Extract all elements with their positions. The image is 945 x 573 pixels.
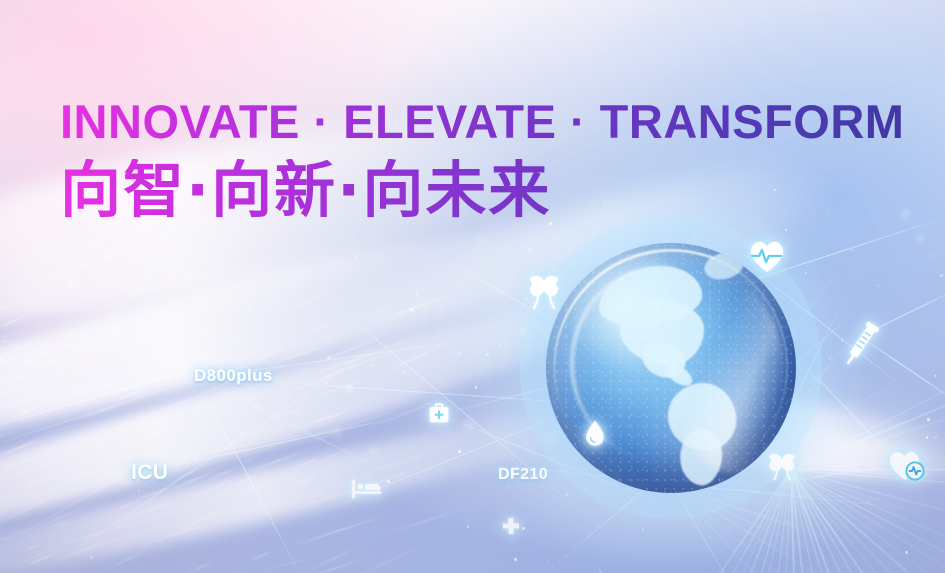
label-df210: DF210 — [498, 466, 548, 484]
perspective-ray — [790, 469, 936, 573]
network-filament-pale — [150, 416, 405, 471]
perspective-ray — [790, 469, 945, 573]
sparkle-particle — [576, 499, 577, 500]
perspective-ray — [672, 485, 889, 573]
wave-stroke — [88, 299, 127, 315]
wave-stroke — [81, 314, 158, 341]
sparkle-particle — [934, 436, 936, 438]
sparkle-particle — [25, 265, 27, 267]
sparkle-particle — [371, 364, 373, 366]
sparkle-particle — [548, 561, 549, 562]
wave-stroke — [228, 336, 243, 344]
syringe-icon — [838, 317, 884, 371]
wave-stroke — [0, 305, 12, 311]
sparkle-particle — [162, 235, 165, 238]
perspective-ray — [673, 485, 857, 549]
sparkle-particle — [940, 274, 943, 277]
wave-stroke — [371, 294, 449, 325]
sparkle-particle — [4, 340, 6, 342]
sparkle-particle — [388, 466, 389, 467]
sparkle-particle — [299, 407, 300, 408]
wave-stroke — [314, 409, 398, 437]
wave-stroke — [0, 392, 49, 412]
bokeh-particle — [475, 236, 486, 247]
sparkle-particle — [528, 249, 530, 251]
wave-stroke — [378, 442, 456, 472]
medical-kit-icon — [428, 403, 450, 424]
wave-stroke — [128, 389, 152, 399]
sparkle-particle — [935, 375, 937, 377]
wave-stroke — [44, 517, 69, 530]
sparkle-particle — [829, 357, 832, 360]
sparkle-particle — [189, 421, 190, 422]
sparkle-particle — [102, 407, 103, 408]
wave-stroke — [0, 434, 60, 464]
wave-stroke — [0, 486, 76, 531]
sparkle-particle — [279, 373, 280, 374]
wave-stroke — [289, 514, 388, 548]
wave-stroke — [9, 471, 98, 508]
wave-stroke — [232, 424, 286, 441]
wave-stroke — [239, 447, 315, 477]
wave-stroke — [291, 475, 316, 488]
wave-stroke — [246, 403, 266, 412]
sparkle-particle — [42, 352, 45, 355]
background-vignette — [0, 0, 945, 573]
sparkle-particle — [936, 436, 937, 437]
sparkle-particle — [498, 344, 501, 347]
wave-stroke — [127, 317, 196, 341]
sparkle-particle — [336, 300, 338, 302]
background-base-gradient — [0, 0, 945, 573]
wave-stroke — [24, 543, 41, 550]
bokeh-particle — [346, 384, 355, 393]
sparkle-particle — [566, 493, 569, 496]
wave-stroke — [308, 445, 352, 468]
sparkle-particle — [202, 300, 203, 301]
globe-sphere — [546, 243, 796, 493]
wave-stroke — [36, 363, 79, 383]
sparkle-particle — [801, 523, 803, 525]
wave-stroke — [0, 320, 58, 347]
wave-stroke — [103, 548, 150, 572]
wave-stroke — [54, 521, 139, 548]
wave-stroke — [96, 401, 126, 415]
wave-stroke — [224, 477, 256, 489]
sparkle-particle — [693, 236, 695, 238]
sparkle-particle — [458, 352, 461, 355]
sparkle-particle — [387, 480, 390, 483]
background-network-lines — [0, 0, 945, 573]
hero-copy: INNOVATE · ELEVATE · TRANSFORM 向智·向新·向未来 — [60, 98, 904, 223]
background-center-glow — [0, 0, 945, 573]
sparkle-particle — [162, 265, 165, 268]
sparkle-particle — [467, 525, 469, 527]
sparkle-particle — [187, 438, 189, 440]
background-wave-texture — [0, 0, 945, 573]
wave-stroke — [0, 383, 35, 401]
wave-stroke — [89, 437, 159, 462]
perspective-ray — [790, 470, 895, 573]
wave-stroke — [0, 366, 42, 387]
network-filament-pale — [10, 375, 296, 541]
wave-stroke — [311, 332, 393, 367]
wave-stroke — [63, 536, 111, 560]
bokeh-particle — [929, 252, 937, 260]
bokeh-particle — [519, 326, 529, 336]
perspective-ray — [790, 470, 883, 573]
bokeh-particle — [68, 276, 80, 288]
wave-stroke — [143, 428, 170, 440]
sparkle-particle — [197, 311, 199, 313]
wave-stroke — [241, 456, 260, 465]
network-filament — [40, 310, 430, 573]
bokeh-particle — [294, 409, 300, 415]
wave-stroke — [377, 290, 461, 326]
wave-stroke — [289, 403, 366, 434]
background-perspective-rays — [0, 0, 945, 573]
wave-stroke — [140, 525, 201, 548]
sparkle-particle — [220, 247, 221, 248]
sparkle-particle — [785, 229, 787, 231]
wave-stroke — [0, 433, 49, 461]
wave-stroke — [72, 400, 133, 422]
wave-stroke — [1, 447, 86, 482]
wave-stroke — [268, 312, 359, 349]
sparkle-particle — [927, 418, 930, 421]
background-blue-wash — [0, 0, 945, 573]
sparkle-particle — [867, 501, 869, 503]
wave-stroke — [21, 435, 89, 459]
wave-stroke — [84, 318, 155, 347]
wave-stroke — [309, 346, 394, 377]
wave-stroke — [14, 349, 52, 367]
sparkle-particle — [451, 319, 453, 321]
wave-stroke — [297, 409, 350, 428]
network-filament — [60, 236, 349, 320]
sparkle-particle — [410, 308, 413, 311]
wave-stroke — [52, 304, 143, 339]
wave-stroke — [0, 340, 32, 356]
wave-stroke — [314, 426, 335, 437]
wave-stroke — [160, 499, 244, 539]
wave-stroke — [253, 346, 286, 361]
globe-graphic — [546, 243, 796, 493]
sparkle-particle — [566, 556, 567, 557]
wave-stroke — [55, 521, 72, 529]
wave-stroke — [305, 348, 400, 384]
bokeh-particle — [916, 234, 924, 242]
wave-stroke — [0, 521, 51, 551]
perspective-ray — [672, 486, 758, 573]
wave-stroke — [0, 491, 18, 508]
sparkle-particle — [268, 298, 269, 299]
bokeh-particle — [331, 425, 342, 436]
wave-stroke — [0, 346, 42, 377]
sparkle-particle — [514, 558, 517, 561]
wave-stroke — [188, 560, 214, 573]
sparkle-particle — [325, 381, 328, 384]
sparkle-particle — [800, 253, 802, 255]
background-particles — [0, 0, 945, 573]
bokeh-particle — [247, 307, 251, 311]
network-filament — [860, 336, 945, 410]
sparkle-particle — [241, 432, 243, 434]
wave-stroke — [318, 370, 342, 382]
sparkle-particle — [410, 328, 412, 330]
kidneys-icon-2 — [762, 452, 802, 482]
wave-stroke — [346, 544, 425, 573]
heart-monitor-icon — [888, 450, 926, 482]
perspective-ray — [791, 469, 945, 573]
wave-stroke — [150, 391, 211, 414]
wave-stroke — [79, 427, 132, 451]
medical-cross-icon — [501, 517, 521, 537]
background-pink-bloom — [0, 0, 945, 573]
sparkle-particle — [486, 353, 489, 356]
light-ribbon — [0, 188, 619, 480]
label-icu: ICU — [131, 461, 168, 485]
wave-stroke — [333, 324, 397, 356]
sparkle-particle — [926, 436, 929, 439]
perspective-ray — [672, 486, 802, 573]
wave-stroke — [0, 335, 62, 356]
wave-stroke — [48, 533, 136, 563]
wave-stroke — [284, 456, 323, 472]
perspective-ray — [790, 470, 864, 573]
wave-stroke — [166, 467, 222, 491]
wave-stroke — [214, 400, 228, 408]
sparkle-particle — [355, 256, 358, 259]
wave-stroke — [109, 497, 147, 514]
wave-stroke — [1, 351, 57, 376]
wave-stroke — [246, 481, 308, 502]
sparkle-particle — [786, 521, 788, 523]
perspective-ray — [790, 470, 945, 573]
wave-stroke — [371, 332, 427, 355]
sparkle-particle — [805, 272, 807, 274]
wave-stroke — [155, 321, 218, 351]
wave-stroke — [234, 318, 253, 328]
sparkle-particle — [146, 403, 147, 404]
wave-stroke — [62, 378, 102, 396]
wave-stroke — [83, 383, 115, 395]
hero-banner: D800plus ICU DF210 INNOVATE · ELEVATE · … — [0, 0, 945, 573]
sparkle-particle — [522, 527, 524, 529]
sparkle-particle — [61, 487, 63, 489]
sparkle-particle — [851, 249, 853, 251]
sparkle-particle — [38, 493, 39, 494]
wave-stroke — [309, 328, 347, 343]
background-light-ribbons — [0, 0, 945, 573]
wave-stroke — [127, 355, 142, 363]
bokeh-particle — [19, 410, 29, 420]
sparkle-particle — [641, 571, 642, 572]
wave-stroke — [83, 313, 130, 330]
sparkle-particle — [130, 359, 132, 361]
label-d800plus: D800plus — [194, 366, 273, 386]
sparkle-particle — [120, 354, 123, 357]
hospital-bed-icon — [352, 479, 382, 499]
sparkle-particle — [683, 507, 684, 508]
wave-stroke — [134, 485, 176, 503]
perspective-ray — [790, 469, 945, 573]
sparkle-particle — [871, 362, 872, 363]
sparkle-particle — [109, 344, 111, 346]
wave-stroke — [305, 373, 377, 402]
sparkle-particle — [841, 339, 844, 342]
sparkle-particle — [403, 371, 405, 373]
wave-stroke — [21, 468, 69, 490]
sparkle-particle — [878, 285, 879, 286]
wave-stroke — [109, 338, 203, 381]
sparkle-particle — [458, 450, 461, 453]
headline-english: INNOVATE · ELEVATE · TRANSFORM — [60, 98, 904, 145]
sparkle-particle — [128, 384, 130, 386]
bokeh-particle — [368, 446, 378, 456]
kidneys-icon — [521, 272, 567, 316]
wave-stroke — [43, 472, 96, 496]
wave-stroke — [275, 290, 334, 316]
sparkle-particle — [411, 466, 412, 467]
wave-stroke — [0, 394, 66, 432]
wave-stroke — [168, 415, 209, 436]
wave-stroke — [198, 327, 220, 338]
sparkle-particle — [250, 399, 252, 401]
bokeh-particle — [337, 434, 343, 440]
sparkle-particle — [141, 458, 142, 459]
sparkle-particle — [552, 566, 553, 567]
wave-stroke — [377, 505, 473, 539]
heart-pulse-icon — [748, 240, 786, 274]
wave-stroke — [260, 554, 322, 573]
perspective-ray — [672, 486, 813, 573]
network-filament — [195, 378, 304, 573]
network-filament — [196, 378, 421, 489]
wave-stroke — [332, 478, 352, 487]
wave-stroke — [20, 544, 72, 570]
bokeh-particle — [462, 418, 475, 431]
sparkle-particle — [416, 293, 418, 295]
wave-stroke — [128, 324, 187, 354]
wave-stroke — [299, 428, 347, 445]
sparkle-particle — [407, 372, 408, 373]
sparkle-particle — [26, 211, 27, 212]
wave-stroke — [0, 335, 52, 363]
wave-stroke — [60, 435, 101, 454]
headline-chinese: 向智·向新·向未来 — [60, 159, 904, 223]
sparkle-particle — [508, 485, 510, 487]
wave-stroke — [0, 446, 64, 477]
wave-stroke — [264, 407, 308, 421]
bokeh-particle — [838, 451, 851, 464]
wave-stroke — [6, 535, 78, 570]
sparkle-particle — [520, 463, 522, 465]
wave-stroke — [207, 484, 222, 492]
wave-stroke — [0, 429, 21, 450]
perspective-ray — [790, 469, 945, 573]
wave-stroke — [306, 558, 365, 573]
network-filament — [0, 419, 394, 493]
sparkle-particle — [588, 535, 590, 537]
wave-stroke — [48, 337, 94, 355]
sparkle-particle — [418, 534, 420, 536]
wave-stroke — [247, 549, 274, 562]
wave-stroke — [105, 387, 146, 406]
wave-stroke — [16, 341, 112, 374]
wave-stroke — [29, 553, 55, 565]
sparkle-particle — [461, 285, 462, 286]
wave-stroke — [37, 504, 90, 528]
sparkle-particle — [90, 556, 93, 559]
perspective-ray — [672, 486, 897, 573]
sparkle-particle — [399, 248, 401, 250]
wave-stroke — [235, 474, 260, 485]
sparkle-particle — [308, 474, 310, 476]
sparkle-particle — [259, 249, 260, 250]
wave-stroke — [380, 340, 452, 375]
wave-stroke — [207, 465, 242, 481]
sparkle-particle — [481, 513, 482, 514]
wave-stroke — [115, 332, 152, 345]
wave-stroke — [221, 428, 316, 465]
wave-stroke — [157, 519, 220, 542]
wave-stroke — [97, 322, 171, 350]
sparkle-particle — [331, 377, 334, 380]
sparkle-particle — [432, 336, 434, 338]
wave-stroke — [300, 543, 364, 573]
sparkle-particle — [138, 490, 139, 491]
sparkle-particle — [388, 316, 390, 318]
sparkle-particle — [642, 528, 644, 530]
wave-stroke — [44, 355, 59, 363]
wave-stroke — [292, 331, 351, 353]
wave-stroke — [107, 496, 188, 527]
perspective-ray — [790, 470, 839, 573]
wave-stroke — [105, 504, 195, 535]
sparkle-particle — [475, 386, 478, 389]
bokeh-particle — [72, 362, 79, 369]
sparkle-particle — [41, 383, 42, 384]
wave-stroke — [0, 313, 32, 332]
perspective-ray — [790, 470, 879, 573]
wave-stroke — [94, 415, 155, 437]
wave-stroke — [260, 483, 278, 490]
sparkle-particle — [321, 492, 322, 493]
wave-stroke — [194, 292, 242, 312]
wave-stroke — [110, 519, 134, 529]
wave-stroke — [32, 420, 85, 440]
wave-stroke — [214, 479, 233, 487]
sparkle-particle — [30, 485, 32, 487]
perspective-ray — [790, 470, 945, 573]
sparkle-particle — [12, 256, 13, 257]
sparkle-particle — [327, 356, 330, 359]
sparkle-particle — [173, 421, 174, 422]
perspective-ray — [790, 470, 945, 573]
wave-stroke — [267, 342, 335, 368]
wave-stroke — [55, 325, 129, 351]
sparkle-particle — [599, 533, 600, 534]
sparkle-particle — [734, 232, 735, 233]
wave-stroke — [36, 397, 51, 405]
wave-stroke — [0, 352, 15, 365]
sparkle-particle — [905, 551, 908, 554]
wave-stroke — [264, 365, 353, 404]
wave-stroke — [0, 365, 28, 386]
water-drop-icon — [584, 419, 606, 447]
wave-stroke — [349, 297, 408, 323]
